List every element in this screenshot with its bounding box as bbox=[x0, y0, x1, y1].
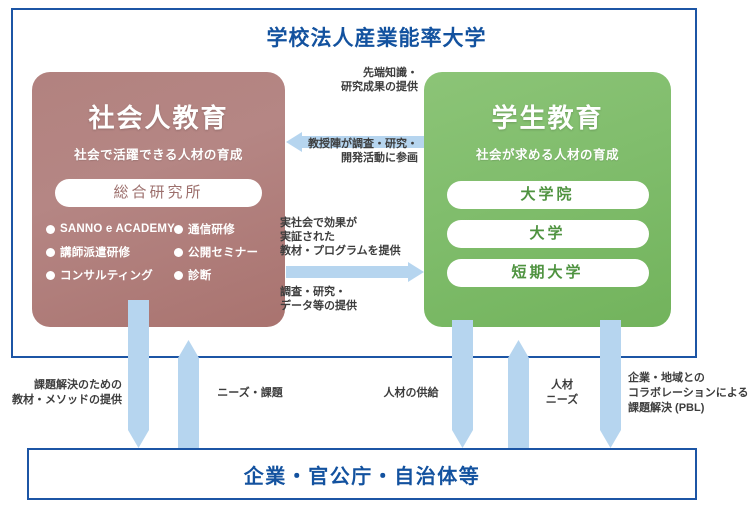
list-item-label: コンサルティング bbox=[60, 267, 153, 283]
chip-university[interactable]: 大学 bbox=[447, 220, 649, 248]
flow-label-research-data: 調査・研究・ データ等の提供 bbox=[280, 285, 430, 313]
panel-adult-education-subtitle: 社会で活躍できる人材の育成 bbox=[32, 144, 285, 163]
arrow-up-talent-needs-icon bbox=[508, 340, 529, 450]
flow-label-pbl: 企業・地域との コラボレーションによる 課題解決 (PBL) bbox=[628, 371, 753, 416]
list-item-label: 診断 bbox=[188, 267, 211, 283]
flow-label-talent-supply: 人材の供給 bbox=[376, 386, 446, 401]
diagram-canvas: 学校法人産業能率大学 社会人教育 社会で活躍できる人材の育成 総合研究所 SAN… bbox=[0, 0, 753, 514]
list-item-label: SANNO e ACADEMY bbox=[60, 223, 175, 235]
bullet-dot-icon bbox=[46, 225, 55, 234]
flow-label-knowledge: 先端知識・ 研究成果の提供 bbox=[296, 66, 418, 94]
flow-label-needs: ニーズ・課題 bbox=[205, 386, 295, 401]
adult-education-service-list: SANNO e ACADEMY 通信研修 講師派遣研修 公開セミナー コンサルテ… bbox=[46, 221, 285, 283]
list-item[interactable]: 公開セミナー bbox=[174, 244, 285, 260]
arrow-down-talent-supply-icon bbox=[452, 320, 473, 448]
list-item[interactable]: 講師派遣研修 bbox=[46, 244, 174, 260]
panel-adult-education[interactable]: 社会人教育 社会で活躍できる人材の育成 総合研究所 SANNO e ACADEM… bbox=[32, 72, 285, 327]
flow-label-methods: 課題解決のための 教材・メソッドの提供 bbox=[0, 378, 122, 408]
arrow-up-needs-icon bbox=[178, 340, 199, 450]
list-item[interactable]: SANNO e ACADEMY bbox=[46, 221, 174, 237]
bullet-dot-icon bbox=[174, 248, 183, 257]
list-item[interactable]: 通信研修 bbox=[174, 221, 285, 237]
arrow-right-lower-icon bbox=[286, 262, 424, 282]
panel-student-education-subtitle: 社会が求める人材の育成 bbox=[424, 144, 671, 163]
list-item-label: 公開セミナー bbox=[188, 244, 258, 260]
list-item[interactable]: 診断 bbox=[174, 267, 285, 283]
list-item-label: 通信研修 bbox=[188, 221, 235, 237]
chip-junior-college[interactable]: 短期大学 bbox=[447, 259, 649, 287]
flow-label-materials: 実社会で効果が 実証された 教材・プログラムを提供 bbox=[280, 216, 430, 258]
bullet-dot-icon bbox=[46, 248, 55, 257]
panel-student-education[interactable]: 学生教育 社会が求める人材の育成 大学院 大学 短期大学 bbox=[424, 72, 671, 327]
bullet-dot-icon bbox=[46, 271, 55, 280]
bullet-dot-icon bbox=[174, 225, 183, 234]
arrow-down-pbl-icon bbox=[600, 320, 621, 448]
flow-label-faculty: 教授陣が調査・研究・ 開発活動に参画 bbox=[286, 137, 418, 165]
flow-label-talent-needs: 人材 ニーズ bbox=[534, 378, 590, 408]
bullet-dot-icon bbox=[174, 271, 183, 280]
panel-adult-education-heading: 社会人教育 bbox=[32, 98, 285, 135]
chip-graduate-school[interactable]: 大学院 bbox=[447, 181, 649, 209]
bottom-bar-companies[interactable]: 企業・官公庁・自治体等 bbox=[27, 448, 697, 500]
bottom-bar-label: 企業・官公庁・自治体等 bbox=[244, 460, 481, 489]
arrow-down-methods-icon bbox=[128, 300, 149, 448]
chip-institute[interactable]: 総合研究所 bbox=[55, 179, 262, 207]
panel-student-education-heading: 学生教育 bbox=[424, 98, 671, 135]
list-item-label: 講師派遣研修 bbox=[60, 244, 130, 260]
list-item[interactable]: コンサルティング bbox=[46, 267, 174, 283]
diagram-title: 学校法人産業能率大学 bbox=[0, 22, 753, 52]
